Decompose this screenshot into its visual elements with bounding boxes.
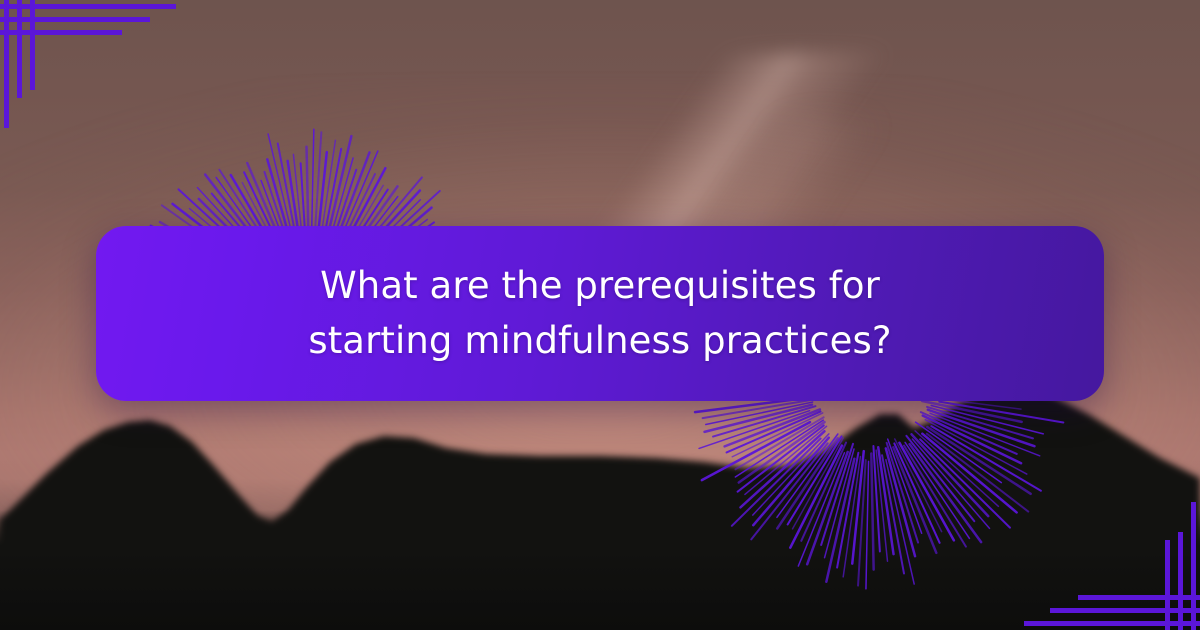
- mountain-silhouette: [0, 370, 1200, 630]
- question-text: What are the prerequisites for starting …: [250, 259, 950, 369]
- foreground-dark: [0, 510, 1200, 630]
- share-card: What are the prerequisites for starting …: [0, 0, 1200, 630]
- question-banner: What are the prerequisites for starting …: [96, 226, 1104, 401]
